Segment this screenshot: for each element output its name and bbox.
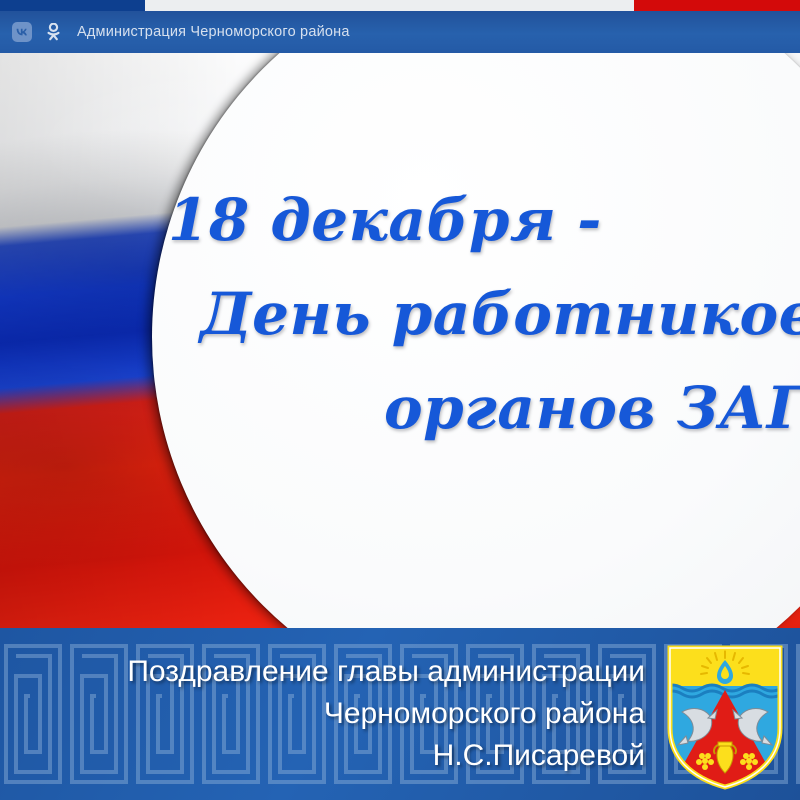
tricolor-blue-segment	[0, 0, 145, 11]
tricolor-red-segment	[634, 0, 800, 11]
tricolor-white-segment	[145, 0, 634, 11]
banner-text-block: Поздравление главы администрации Черномо…	[0, 628, 655, 800]
banner-line-2: Черноморского района	[324, 693, 645, 735]
poster-screenshot: Администрация Черноморского района 18 де…	[0, 0, 800, 800]
social-header-bar: Администрация Черноморского района	[0, 11, 800, 53]
banner-line-1: Поздравление главы администрации	[127, 651, 645, 693]
header-title: Администрация Черноморского района	[77, 24, 350, 40]
bottom-banner: Поздравление главы администрации Черномо…	[0, 628, 800, 800]
chernomorsky-district-coat-of-arms	[662, 642, 788, 792]
poster-artwork	[0, 53, 800, 628]
banner-line-3: Н.С.Писаревой	[433, 735, 645, 777]
white-disc-backdrop	[152, 53, 800, 628]
russian-tricolor-strip	[0, 0, 800, 11]
ok-icon[interactable]	[43, 22, 63, 42]
vk-icon[interactable]	[12, 22, 32, 42]
